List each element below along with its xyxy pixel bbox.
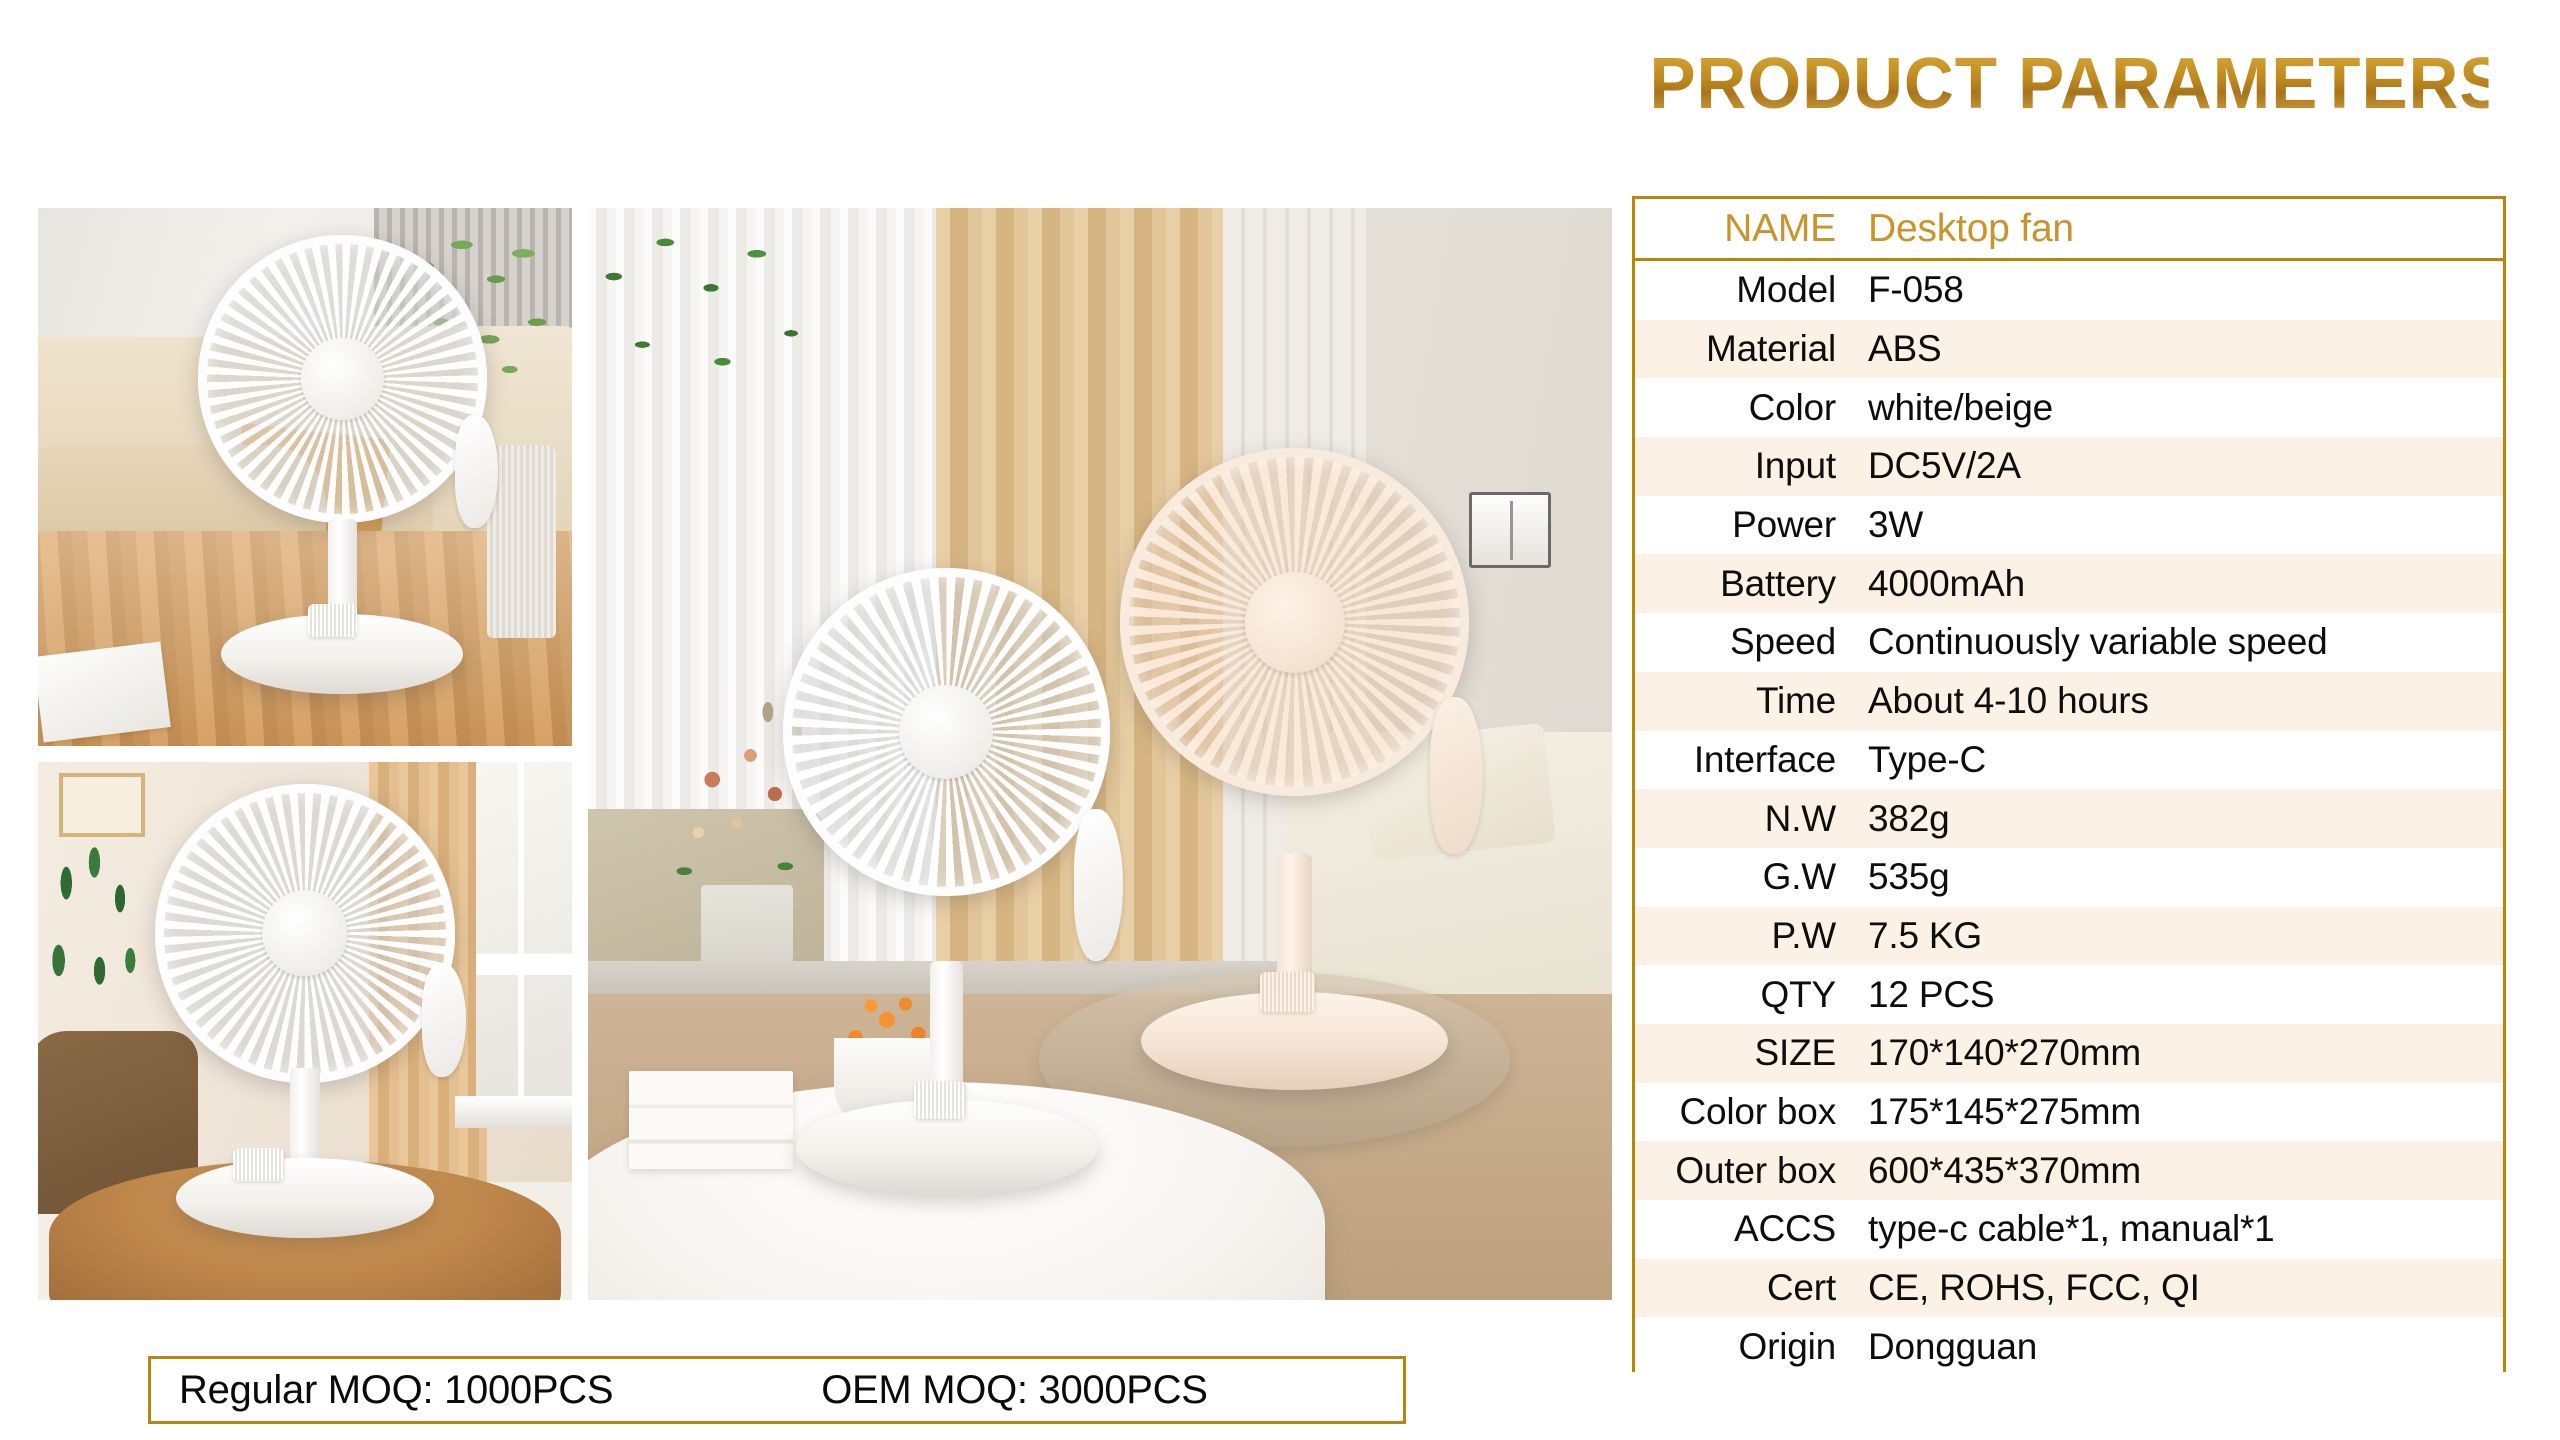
spec-value: 175*145*275mm bbox=[1850, 1091, 2503, 1133]
spec-label: N.W bbox=[1635, 798, 1850, 840]
regular-moq-label: Regular MOQ: 1000PCS bbox=[179, 1368, 613, 1413]
fan-head bbox=[155, 784, 454, 1083]
table-row-input: Input DC5V/2A bbox=[1635, 437, 2503, 496]
moq-banner: Regular MOQ: 1000PCS OEM MOQ: 3000PCS bbox=[148, 1356, 1406, 1424]
spec-value: 3W bbox=[1850, 504, 2503, 546]
spec-label: Model bbox=[1635, 269, 1850, 311]
table-row-cert: Cert CE, ROHS, FCC, QI bbox=[1635, 1259, 2503, 1318]
spec-value: Type-C bbox=[1850, 739, 2503, 781]
scene-living-room-two-fans bbox=[588, 208, 1612, 1300]
desktop-fan-beige bbox=[1120, 448, 1468, 1103]
table-row-origin: Origin Dongguan bbox=[1635, 1317, 2503, 1376]
spec-label: Speed bbox=[1635, 621, 1850, 663]
table-row-battery: Battery 4000mAh bbox=[1635, 554, 2503, 613]
spec-label: ACCS bbox=[1635, 1208, 1850, 1250]
spec-value: ABS bbox=[1850, 328, 2503, 370]
spec-label: Interface bbox=[1635, 739, 1850, 781]
magazine bbox=[38, 642, 171, 743]
spec-label: Input bbox=[1635, 445, 1850, 487]
table-row-size: SIZE 170*140*270mm bbox=[1635, 1024, 2503, 1083]
spec-label: Color box bbox=[1635, 1091, 1850, 1133]
spec-label: QTY bbox=[1635, 974, 1850, 1016]
table-row-nw: N.W 382g bbox=[1635, 789, 2503, 848]
light-switch-icon bbox=[1469, 492, 1551, 568]
spec-value: Continuously variable speed bbox=[1850, 621, 2503, 663]
spec-label: Battery bbox=[1635, 563, 1850, 605]
spec-label: Color bbox=[1635, 387, 1850, 429]
fan-tilt-hinge bbox=[1074, 809, 1123, 961]
spec-value: 382g bbox=[1850, 798, 2503, 840]
table-row-time: Time About 4-10 hours bbox=[1635, 672, 2503, 731]
table-row-pw: P.W 7.5 KG bbox=[1635, 907, 2503, 966]
fan-tilt-hinge bbox=[1430, 697, 1482, 854]
table-row-color-box: Color box 175*145*275mm bbox=[1635, 1083, 2503, 1142]
table-row-material: Material ABS bbox=[1635, 320, 2503, 379]
window-sill bbox=[455, 1096, 572, 1128]
fan-tilt-hinge bbox=[455, 415, 498, 529]
table-row-model: Model F-058 bbox=[1635, 261, 2503, 320]
scene-living-room-floor bbox=[38, 208, 572, 746]
product-parameters-table: NAME Desktop fan Model F-058 Material AB… bbox=[1632, 196, 2506, 1372]
spec-value: About 4-10 hours bbox=[1850, 680, 2503, 722]
spec-value: 600*435*370mm bbox=[1850, 1150, 2503, 1192]
table-row-qty: QTY 12 PCS bbox=[1635, 965, 2503, 1024]
window-frame bbox=[476, 762, 572, 1117]
spec-label: Time bbox=[1635, 680, 1850, 722]
fan-speed-knob bbox=[914, 1081, 966, 1119]
fan-head bbox=[198, 235, 486, 523]
table-row-outer-box: Outer box 600*435*370mm bbox=[1635, 1141, 2503, 1200]
spec-label: Outer box bbox=[1635, 1150, 1850, 1192]
spec-value: 4000mAh bbox=[1850, 563, 2503, 605]
desktop-fan-white bbox=[783, 568, 1111, 1201]
spec-value: CE, ROHS, FCC, QI bbox=[1850, 1267, 2503, 1309]
spec-label: P.W bbox=[1635, 915, 1850, 957]
table-row-gw: G.W 535g bbox=[1635, 848, 2503, 907]
table-row-power: Power 3W bbox=[1635, 496, 2503, 555]
spec-label: Material bbox=[1635, 328, 1850, 370]
desktop-fan-white bbox=[198, 235, 486, 708]
spec-label: Power bbox=[1635, 504, 1850, 546]
page-title: PRODUCT PARAMETERS bbox=[1649, 48, 2488, 120]
product-photo-bottom-left bbox=[38, 762, 572, 1300]
fan-base bbox=[176, 1158, 433, 1238]
table-row-interface: Interface Type-C bbox=[1635, 731, 2503, 790]
plant-branch-icon bbox=[588, 208, 854, 481]
spec-value: type-c cable*1, manual*1 bbox=[1850, 1208, 2503, 1250]
table-row-accs: ACCS type-c cable*1, manual*1 bbox=[1635, 1200, 2503, 1259]
fan-speed-knob bbox=[308, 604, 357, 637]
product-spec-page: PRODUCT PARAMETERS bbox=[0, 0, 2560, 1440]
spec-label: G.W bbox=[1635, 856, 1850, 898]
spec-value: white/beige bbox=[1850, 387, 2503, 429]
fan-head bbox=[1120, 448, 1468, 796]
oem-moq-label: OEM MOQ: 3000PCS bbox=[821, 1368, 1207, 1413]
spec-value: DC5V/2A bbox=[1850, 445, 2503, 487]
product-photo-center bbox=[588, 208, 1612, 1300]
spec-label: NAME bbox=[1635, 207, 1850, 251]
fan-head bbox=[783, 568, 1111, 896]
fan-speed-knob bbox=[233, 1148, 284, 1181]
product-photo-top-left bbox=[38, 208, 572, 746]
spec-value: F-058 bbox=[1850, 269, 2503, 311]
spec-value: Desktop fan bbox=[1850, 207, 2503, 251]
spec-value: 535g bbox=[1850, 856, 2503, 898]
fan-speed-knob bbox=[1260, 972, 1316, 1011]
spec-value: 7.5 KG bbox=[1850, 915, 2503, 957]
spec-value: 170*140*270mm bbox=[1850, 1032, 2503, 1074]
spec-label: Origin bbox=[1635, 1326, 1850, 1368]
spec-value: 12 PCS bbox=[1850, 974, 2503, 1016]
spec-value: Dongguan bbox=[1850, 1326, 2503, 1368]
spec-label: Cert bbox=[1635, 1267, 1850, 1309]
spec-label: SIZE bbox=[1635, 1032, 1850, 1074]
table-row-name: NAME Desktop fan bbox=[1635, 199, 2503, 261]
table-row-color: Color white/beige bbox=[1635, 378, 2503, 437]
table-row-speed: Speed Continuously variable speed bbox=[1635, 613, 2503, 672]
desktop-fan-white bbox=[155, 784, 454, 1257]
stacked-books bbox=[629, 1071, 793, 1169]
scene-side-table-window bbox=[38, 762, 572, 1300]
